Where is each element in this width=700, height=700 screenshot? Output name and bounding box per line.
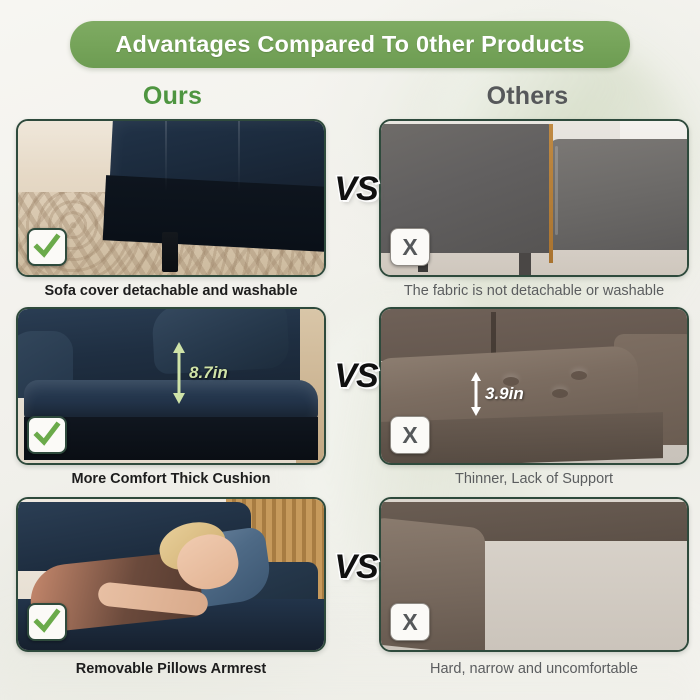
ours-photo-panel	[16, 497, 326, 652]
others-caption: The fabric is not detachable or washable	[379, 283, 689, 299]
vs-divider: VS	[326, 357, 386, 396]
vs-divider: VS	[326, 170, 386, 209]
double-arrow-icon	[470, 372, 482, 416]
sofa-side-panel	[549, 139, 687, 250]
others-photo-panel: X	[379, 307, 689, 465]
dimension-label: 3.9in	[485, 384, 524, 404]
banner-title: Advantages Compared To 0ther Products	[115, 31, 584, 58]
others-caption: Thinner, Lack of Support	[379, 471, 689, 487]
sofa-leg	[519, 253, 531, 275]
fabric-fold	[238, 121, 240, 192]
status-badge-cross: X	[390, 416, 430, 454]
status-badge-check	[27, 603, 67, 641]
check-icon	[35, 236, 59, 258]
header-banner: Advantages Compared To 0ther Products	[70, 21, 630, 68]
seat-cushion	[24, 380, 318, 420]
status-badge-check	[27, 228, 67, 266]
fabric-seam	[555, 146, 558, 235]
ours-caption: Sofa cover detachable and washable	[16, 283, 326, 299]
ours-photo-panel	[16, 307, 326, 465]
dimension-annotation-ours: 8.7in	[172, 342, 228, 404]
ours-photo-panel	[16, 119, 326, 277]
cross-icon: X	[402, 611, 417, 634]
check-icon	[35, 424, 59, 446]
column-header-others: Others	[355, 82, 700, 111]
tuft-button	[571, 371, 587, 380]
vs-divider: VS	[326, 548, 386, 587]
ours-caption: Removable Pillows Armrest	[16, 661, 326, 677]
others-photo-panel: X	[379, 119, 689, 277]
tan-piping	[549, 124, 553, 263]
sofa-leg	[162, 232, 178, 272]
status-badge-cross: X	[390, 603, 430, 641]
status-badge-check	[27, 416, 67, 454]
cushion-gap	[491, 312, 496, 358]
others-caption: Hard, narrow and uncomfortable	[379, 661, 689, 677]
others-photo-panel: X	[379, 497, 689, 652]
dimension-label: 8.7in	[189, 363, 228, 383]
sofa-base	[24, 417, 318, 460]
fabric-fold	[165, 121, 167, 192]
check-icon	[35, 611, 59, 633]
cross-icon: X	[402, 424, 417, 447]
dimension-annotation-others: 3.9in	[470, 372, 524, 416]
double-arrow-icon	[172, 342, 186, 404]
comparison-infographic: Advantages Compared To 0ther Products Ou…	[0, 0, 700, 700]
ours-caption: More Comfort Thick Cushion	[16, 471, 326, 487]
cross-icon: X	[402, 236, 417, 259]
sofa-seat	[467, 535, 687, 641]
column-header-ours: Ours	[0, 82, 345, 111]
status-badge-cross: X	[390, 228, 430, 266]
